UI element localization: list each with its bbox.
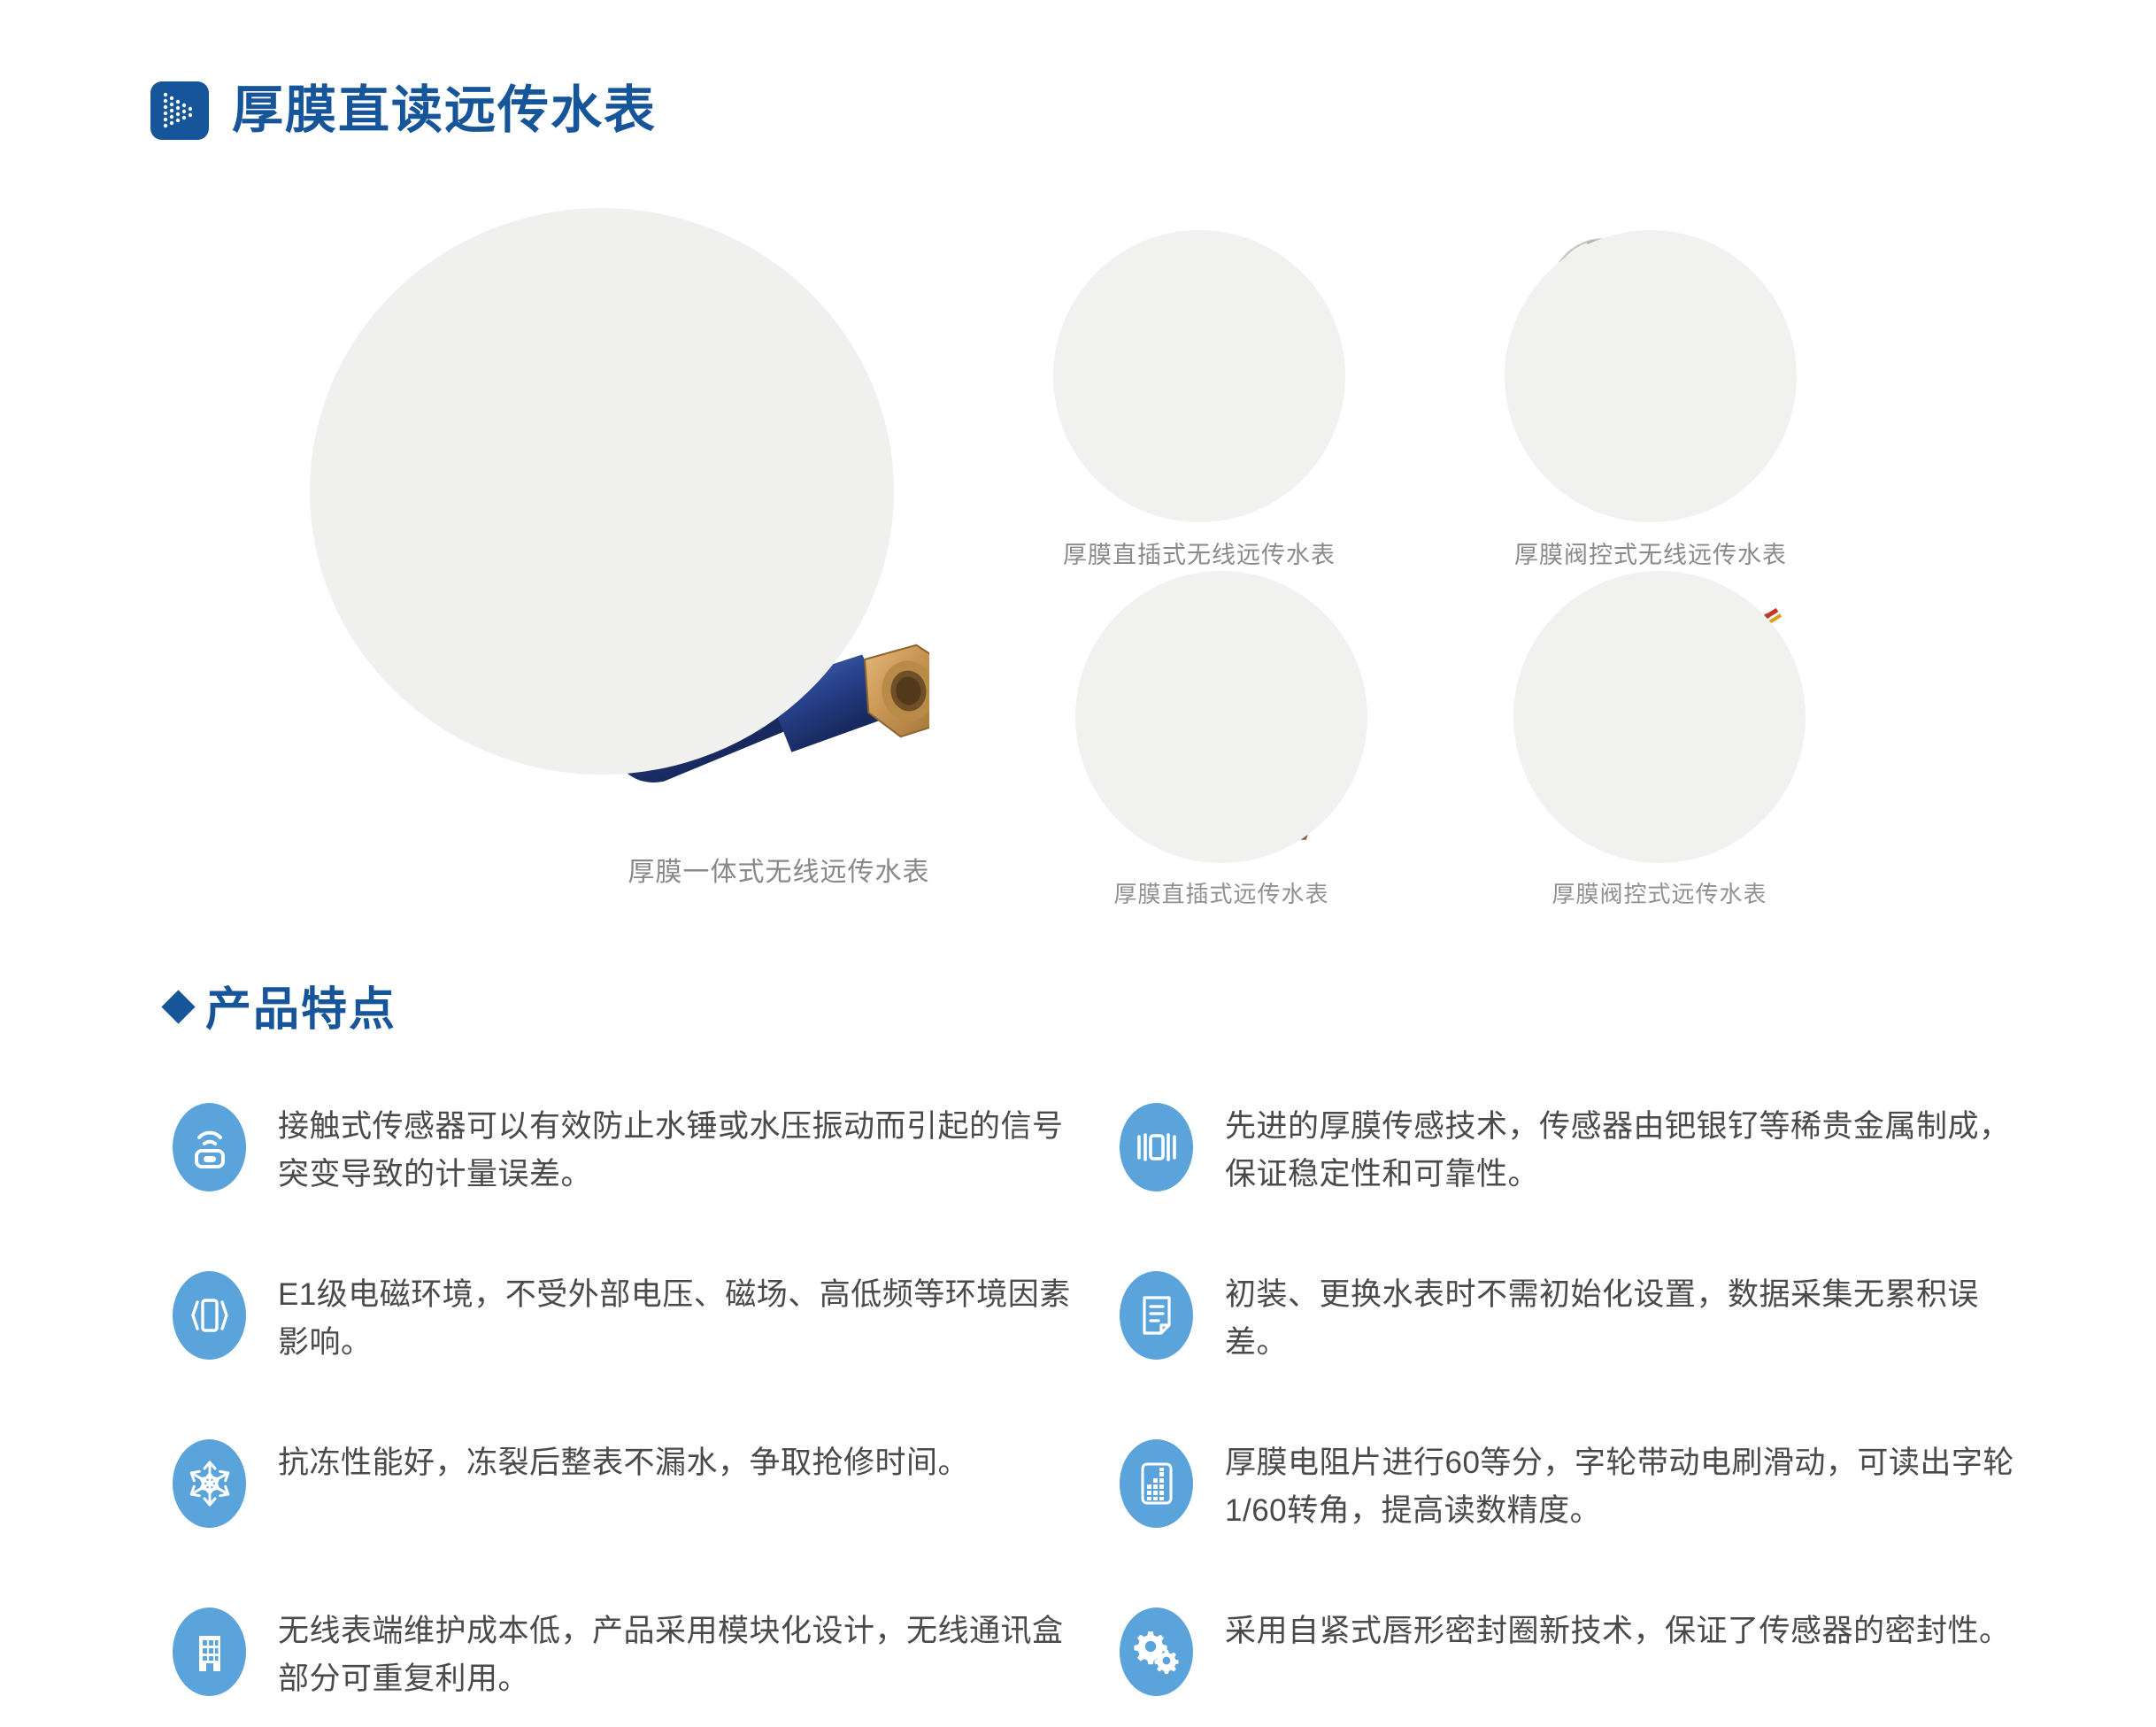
thick-film-sensor-icon xyxy=(1120,1103,1193,1191)
building-module-icon xyxy=(173,1607,246,1696)
feature-item: 先进的厚膜传感技术，传感器由钯银钌等稀贵金属制成，保证稳定性和可靠性。 xyxy=(1120,1098,2040,1266)
features-grid: 接触式传感器可以有效防止水锤或水压振动而引起的信号突变导致的计量误差。 先进的厚… xyxy=(173,1098,2040,1727)
thumb-caption: 厚膜阀控式远传水表 xyxy=(1416,876,1903,909)
hero-caption: 厚膜一体式无线远传水表 xyxy=(504,850,1053,889)
feature-item: 厚膜电阻片进行60等分，字轮带动电刷滑动，可读出字轮1/60转角，提高读数精度。 xyxy=(1120,1434,2040,1602)
thumb-caption: 厚膜阀控式无线远传水表 xyxy=(1407,536,1894,570)
snowflake-icon xyxy=(173,1439,246,1528)
thumb-circle-backdrop xyxy=(1053,230,1345,522)
gears-icon xyxy=(1120,1607,1193,1696)
feature-text: E1级电磁环境，不受外部电压、磁场、高低频等环境因素影响。 xyxy=(278,1266,1093,1368)
resistor-grid-icon xyxy=(1120,1439,1193,1528)
thumbnail-2[interactable]: 厚膜阀控式无线远传水表 xyxy=(1505,230,1797,522)
diamond-bullet-icon xyxy=(161,990,195,1023)
feature-item: 初装、更换水表时不需初始化设置，数据采集无累积误差。 xyxy=(1120,1266,2040,1434)
feature-text: 无线表端维护成本低，产品采用模块化设计，无线通讯盒部分可重复利用。 xyxy=(278,1602,1093,1704)
thumbnail-1[interactable]: 200T 15mm 厚膜直插式无线远传水表 xyxy=(1053,230,1345,522)
feature-item: 无线表端维护成本低，产品采用模块化设计，无线通讯盒部分可重复利用。 xyxy=(173,1602,1093,1727)
feature-item: 抗冻性能好，冻裂后整表不漏水，争取抢修时间。 xyxy=(173,1434,1093,1602)
page-title-row: 厚膜直读远传水表 xyxy=(150,81,657,140)
page-title: 厚膜直读远传水表 xyxy=(232,85,657,136)
thumbnail-4[interactable]: 厚膜阀控式远传水表 xyxy=(1513,571,1806,863)
product-showcase: 0 0 0 0 xyxy=(0,159,2156,894)
thumb-caption: 厚膜直插式远传水表 xyxy=(978,876,1465,909)
hero-circle-backdrop xyxy=(310,208,894,775)
thumb-circle-backdrop xyxy=(1505,230,1797,522)
feature-text: 先进的厚膜传感技术，传感器由钯银钌等稀贵金属制成，保证稳定性和可靠性。 xyxy=(1225,1098,2040,1199)
feature-text: 抗冻性能好，冻裂后整表不漏水，争取抢修时间。 xyxy=(278,1434,969,1487)
features-section-title: 产品特点 xyxy=(205,972,397,1038)
feature-item: 采用自紧式唇形密封圈新技术，保证了传感器的密封性。 xyxy=(1120,1602,2040,1727)
document-icon xyxy=(1120,1271,1193,1360)
thumb-circle-backdrop xyxy=(1513,571,1806,863)
feature-text: 接触式传感器可以有效防止水锤或水压振动而引起的信号突变导致的计量误差。 xyxy=(278,1098,1093,1199)
dotted-play-arrow-icon xyxy=(150,81,209,140)
wireless-sensor-icon xyxy=(173,1103,246,1191)
feature-item: 接触式传感器可以有效防止水锤或水压振动而引起的信号突变导致的计量误差。 xyxy=(173,1098,1093,1266)
hero-product-image[interactable]: 0 0 0 0 xyxy=(292,190,929,810)
anti-electromagnetic-icon xyxy=(173,1271,246,1360)
feature-text: 采用自紧式唇形密封圈新技术，保证了传感器的密封性。 xyxy=(1225,1602,2011,1655)
features-section-title-row: 产品特点 xyxy=(166,972,397,1038)
thumb-caption: 厚膜直插式无线远传水表 xyxy=(956,536,1443,570)
product-page: 厚膜直读远传水表 xyxy=(0,0,2156,1727)
thumb-circle-backdrop xyxy=(1075,571,1367,863)
thumbnail-3[interactable]: 200T 15mm 厚膜直插式远传水表 xyxy=(1075,571,1367,863)
feature-text: 初装、更换水表时不需初始化设置，数据采集无累积误差。 xyxy=(1225,1266,2040,1368)
feature-text: 厚膜电阻片进行60等分，字轮带动电刷滑动，可读出字轮1/60转角，提高读数精度。 xyxy=(1225,1434,2040,1536)
feature-item: E1级电磁环境，不受外部电压、磁场、高低频等环境因素影响。 xyxy=(173,1266,1093,1434)
